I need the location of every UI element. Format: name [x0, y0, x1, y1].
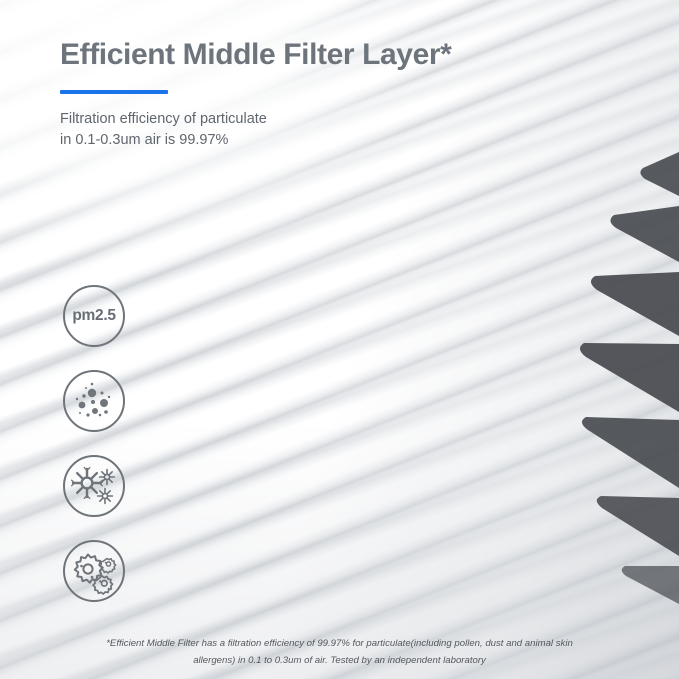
pollen-icon	[62, 539, 126, 603]
footnote-disclaimer: *Efficient Middle Filter has a filtratio…	[40, 636, 640, 669]
pm25-badge-icon: pm2.5	[62, 284, 126, 348]
product-feature-image: Efficient Middle Filter Layer* Filtratio…	[0, 0, 679, 679]
accent-rule	[60, 90, 168, 94]
header-block: Efficient Middle Filter Layer* Filtratio…	[60, 38, 451, 151]
dust-particles-icon	[62, 369, 126, 433]
page-title: Efficient Middle Filter Layer*	[60, 38, 451, 73]
subtitle: Filtration efficiency of particulate in …	[60, 109, 451, 151]
pm25-label: pm2.5	[62, 284, 126, 348]
snowflake-icon	[62, 454, 126, 518]
feature-icon-list: pm2.5	[62, 284, 126, 624]
